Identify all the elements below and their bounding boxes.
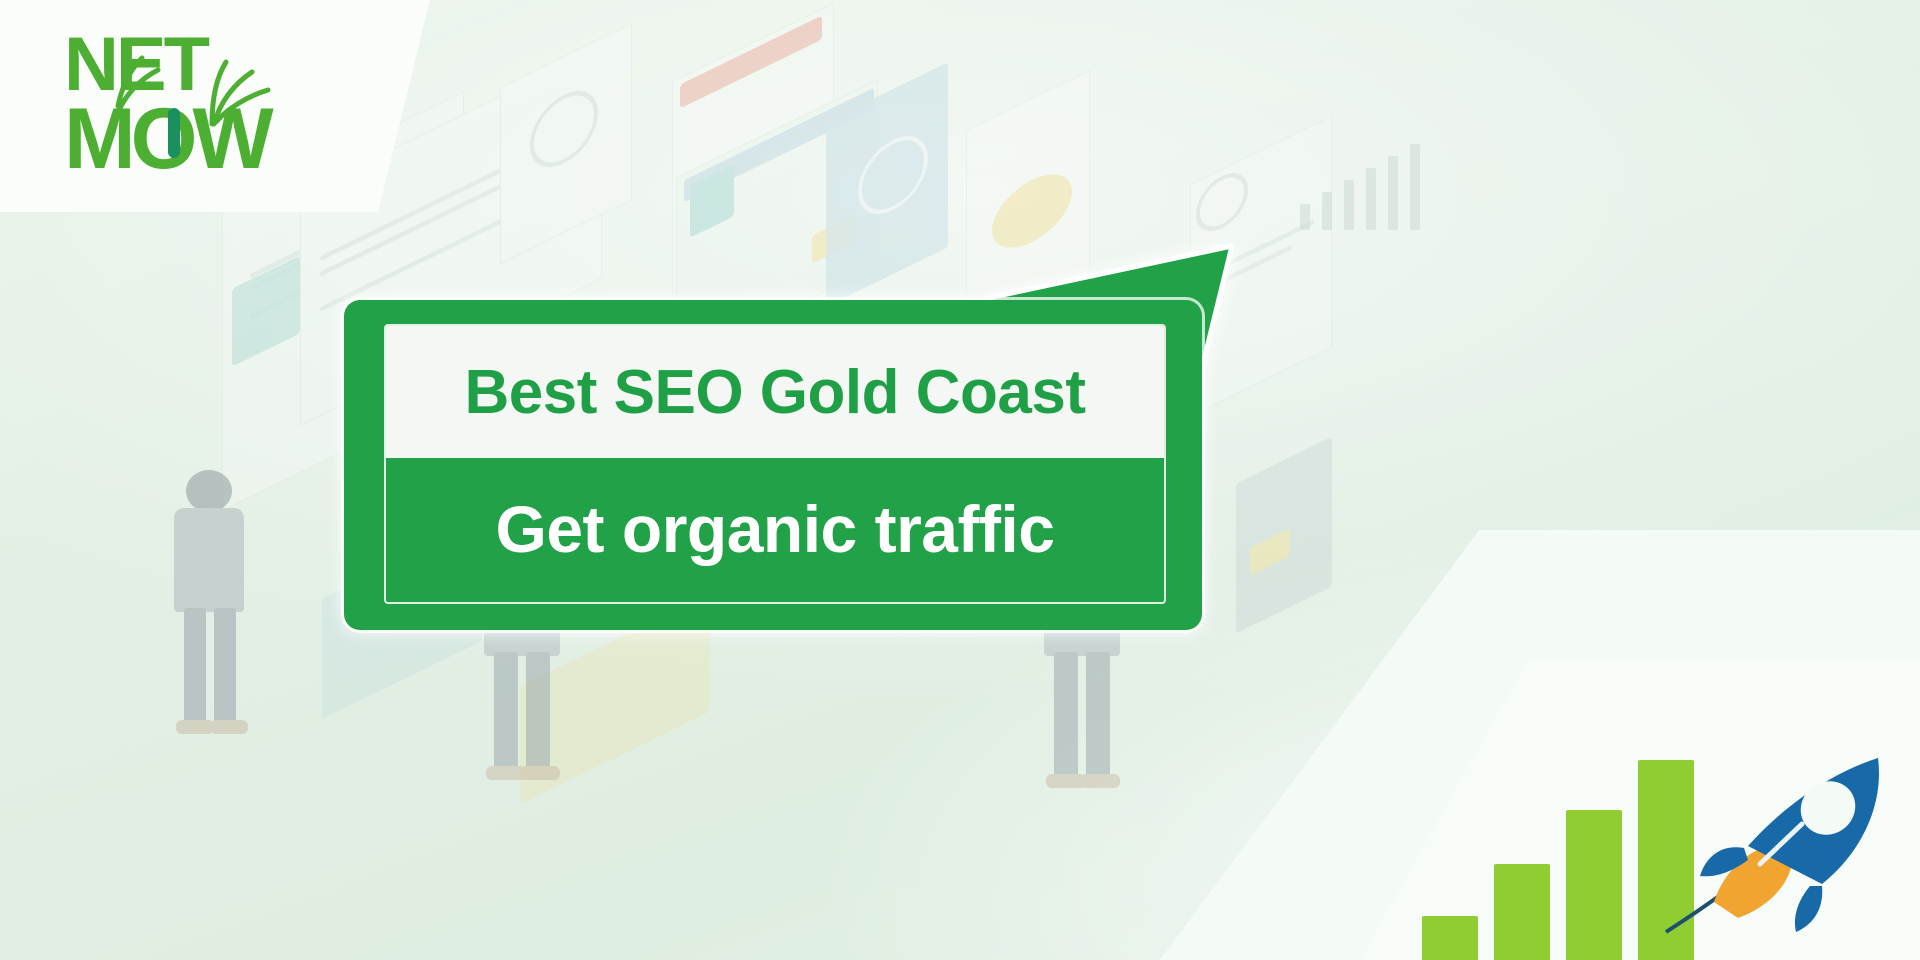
mini-bar-6 [1410, 144, 1420, 230]
logo-accent-bar [168, 108, 180, 158]
mini-bar-1 [1300, 204, 1310, 230]
person-left [158, 470, 268, 750]
growth-bar-3 [1566, 810, 1622, 960]
sign-subheadline-row: Get organic traffic [386, 458, 1164, 600]
person-center-leg-1 [494, 652, 518, 772]
person-left-shoe-2 [210, 720, 248, 734]
mini-bar-3 [1344, 180, 1354, 230]
promo-sign: Best SEO Gold Coast Get organic traffic [332, 240, 1238, 652]
person-left-head [186, 470, 232, 512]
sign-body: Best SEO Gold Coast Get organic traffic [344, 300, 1202, 630]
person-center-shoe-2 [520, 766, 560, 780]
growth-bar-1 [1422, 916, 1478, 960]
sign-inner-border: Best SEO Gold Coast Get organic traffic [384, 324, 1166, 604]
person-left-leg-1 [184, 608, 206, 726]
person-left-shoe-1 [176, 720, 214, 734]
banner-canvas: NET MOW Best SEO Gold Coast Get organic … [0, 0, 1920, 960]
growth-bar-2 [1494, 864, 1550, 960]
person-center-leg-2 [526, 652, 550, 772]
sign-headline: Best SEO Gold Coast [465, 357, 1086, 428]
mini-bar-5 [1388, 156, 1398, 230]
person-left-leg-2 [214, 608, 236, 726]
mini-bar-4 [1366, 168, 1376, 230]
person-right-leg-2 [1086, 652, 1110, 780]
person-left-body [174, 508, 244, 612]
person-right-leg-1 [1054, 652, 1078, 780]
sign-headline-row: Best SEO Gold Coast [386, 326, 1164, 458]
brand-logo[interactable]: NET MOW [62, 28, 292, 178]
sign-subheadline: Get organic traffic [496, 491, 1055, 567]
mini-bar-2 [1322, 192, 1332, 230]
rocket-icon [1656, 688, 1906, 938]
person-right-shoe-2 [1080, 774, 1120, 788]
